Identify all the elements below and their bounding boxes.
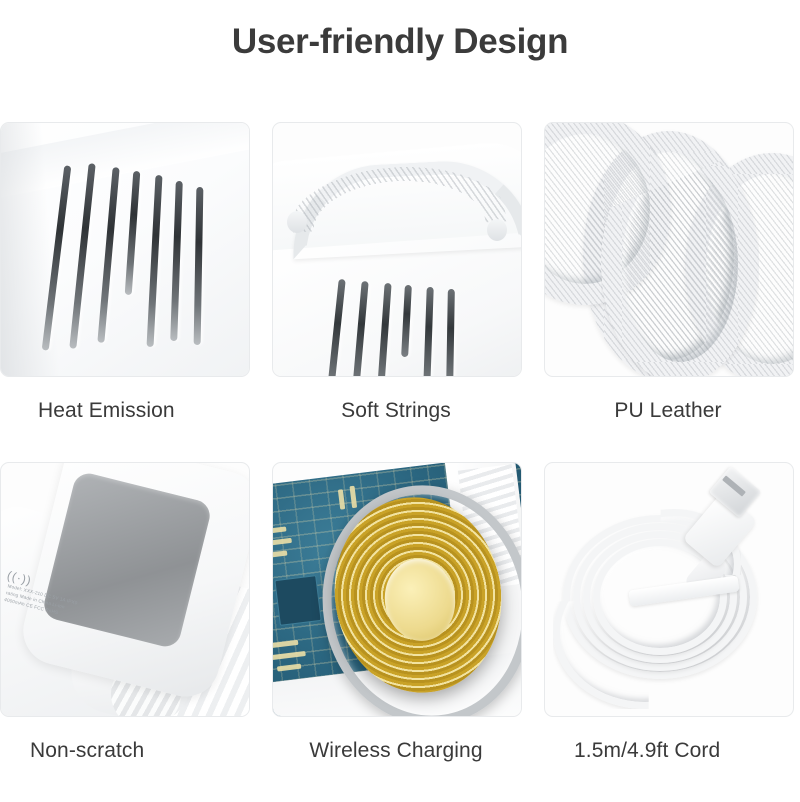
- non-scratch-image: ((·)) Model: XXX-210 DC 5V 1A IPX0 ratin…: [0, 462, 250, 717]
- heat-emission-image: [0, 122, 250, 377]
- feature-row-2: ((·)) Model: XXX-210 DC 5V 1A IPX0 ratin…: [0, 462, 800, 802]
- soft-strings-image: [272, 122, 522, 377]
- page-title: User-friendly Design: [0, 22, 800, 62]
- feature-card-wireless-charging[interactable]: Wireless Charging: [272, 462, 520, 763]
- feature-card-non-scratch[interactable]: ((·)) Model: XXX-210 DC 5V 1A IPX0 ratin…: [0, 462, 248, 763]
- soft-strings-caption: Soft Strings: [272, 399, 520, 423]
- wireless-charging-caption: Wireless Charging: [272, 739, 520, 763]
- feature-card-cord-length[interactable]: 1.5m/4.9ft Cord: [544, 462, 792, 763]
- product-feature-page: User-friendly Design: [0, 0, 800, 800]
- feature-card-pu-leather[interactable]: PU Leather: [544, 122, 792, 423]
- wireless-charging-image: [272, 462, 522, 717]
- usb-cable-image: [544, 462, 794, 717]
- cord-length-caption: 1.5m/4.9ft Cord: [544, 739, 792, 763]
- pu-leather-caption: PU Leather: [544, 399, 792, 423]
- pu-leather-image: [544, 122, 794, 377]
- feature-card-heat-emission[interactable]: Heat Emission: [0, 122, 248, 423]
- feature-grid: Heat Emission: [0, 122, 800, 802]
- feature-card-soft-strings[interactable]: Soft Strings: [272, 122, 520, 423]
- heat-emission-caption: Heat Emission: [0, 399, 248, 423]
- feature-row-1: Heat Emission: [0, 122, 800, 462]
- non-scratch-caption: Non-scratch: [0, 739, 248, 763]
